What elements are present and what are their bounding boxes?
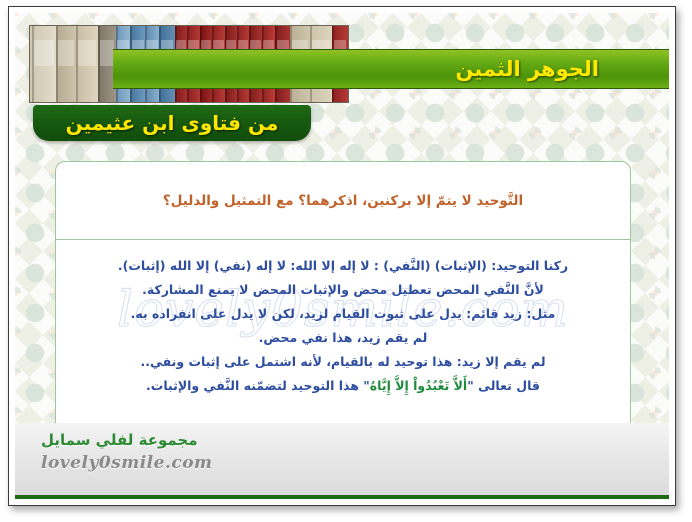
question-text: التَّوحيد لا يتمّ إلا بركنين، اذكرهما؟ م… [163,193,523,209]
answer-line: لأنَّ النَّفي المحض تعطيل محض والإثبات ا… [82,278,604,302]
footer: مجموعة لفلي سمايل lovely0smile.com [15,423,669,499]
ayah-prefix: قال تعالى " [467,378,540,393]
footer-website-url[interactable]: lovely0smile.com [41,453,213,473]
slide-inner: الجوهر الثمين من فتاوى ابن عثيمين التَّو… [15,13,669,499]
ayah-suffix: " هذا التوحيد لتضمّنه النَّفي والإثبات. [146,378,370,393]
answer-line-with-ayah: قال تعالى "أَلاَّ تَعْبُدُواْ إِلاَّ إِي… [82,374,604,398]
answer-line: لم يقم زيد، هذا نفي محض. [82,326,604,350]
footer-arabic-label: مجموعة لفلي سمايل [41,431,198,449]
slide-frame: الجوهر الثمين من فتاوى ابن عثيمين التَّو… [8,6,676,506]
header: الجوهر الثمين من فتاوى ابن عثيمين [15,13,669,143]
answer-section: ركنا التوحيد: (الإثبات) (النَّفي) : لا إ… [56,240,630,408]
content-card: التَّوحيد لا يتمّ إلا بركنين، اذكرهما؟ م… [55,161,631,437]
quran-ayah-text: أَلاَّ تَعْبُدُواْ إِلاَّ إِيَّاهُ [370,378,467,393]
answer-line: مثل: زيد قائم: يدل على ثبوت القيام لزيد،… [82,302,604,326]
banner-subtitle-text: من فتاوى ابن عثيمين [66,111,279,135]
answer-line: لم يقم إلا زيد: هذا توحيد له بالقيام، لأ… [82,350,604,374]
banner-title-text: الجوهر الثمين [455,57,599,81]
banner-title-bar: الجوهر الثمين [113,49,669,89]
answer-line: ركنا التوحيد: (الإثبات) (النَّفي) : لا إ… [82,254,604,278]
banner-subtitle-bar: من فتاوى ابن عثيمين [33,105,311,141]
question-section: التَّوحيد لا يتمّ إلا بركنين، اذكرهما؟ م… [56,162,630,240]
